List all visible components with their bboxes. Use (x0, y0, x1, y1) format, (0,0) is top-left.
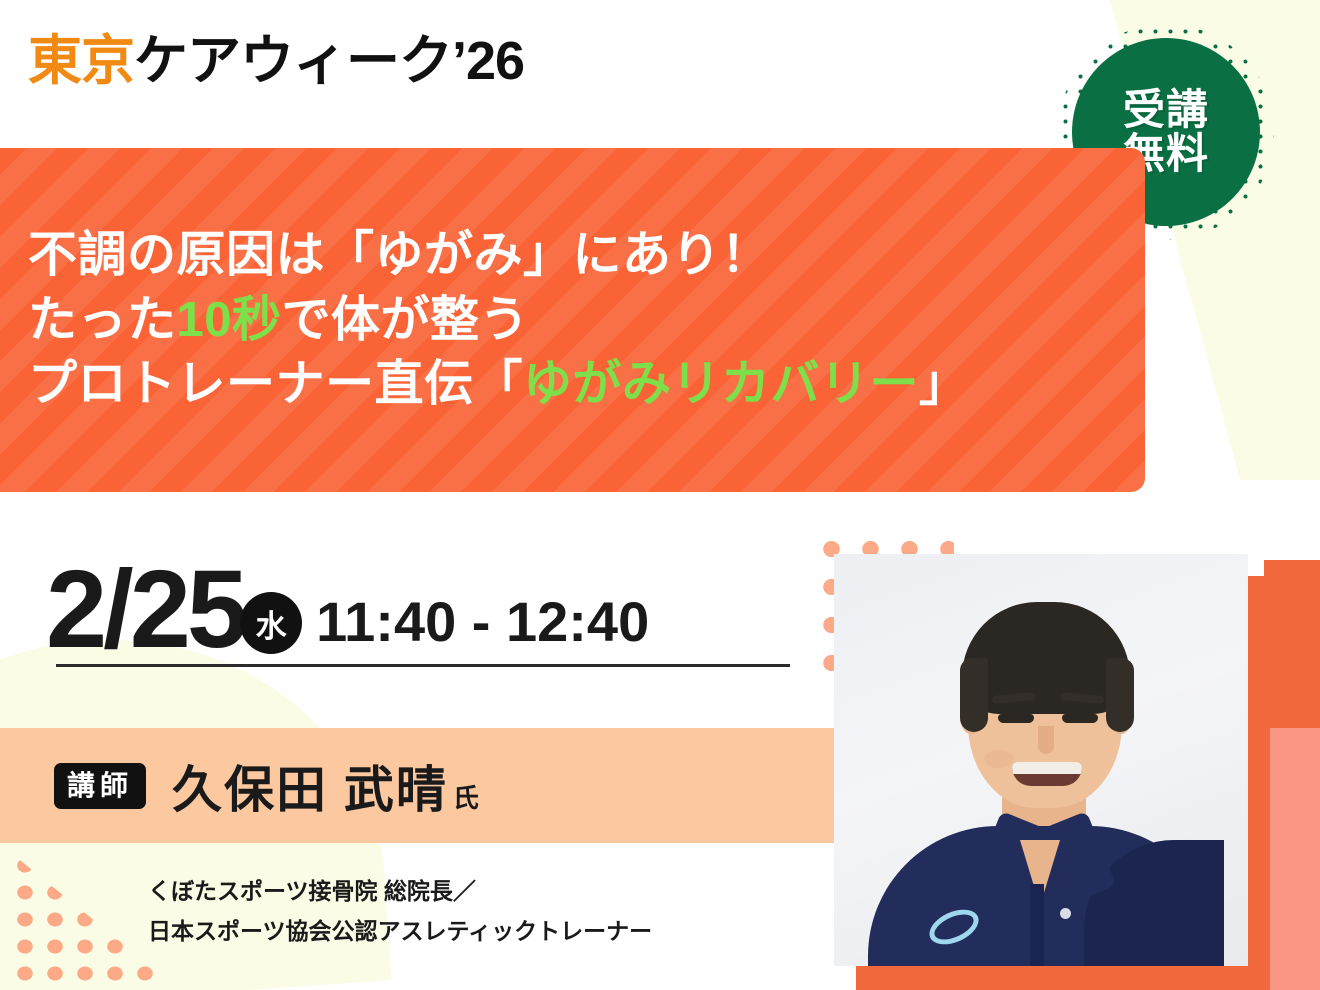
title-line-1: 不調の原因は「ゆがみ」にあり！ (28, 223, 1145, 288)
portrait-mouth (1012, 762, 1082, 786)
portrait-nose (1038, 726, 1054, 754)
affiliation-line-2: 日本スポーツ協会公認アスレティックトレーナー (148, 912, 788, 952)
title-line-3-highlight: ゆがみリカバリー (523, 357, 919, 411)
portrait-teeth (1012, 762, 1082, 774)
event-logo-prefix: 東京 (28, 31, 134, 91)
day-of-week-chip: 水 (240, 592, 302, 654)
portrait-eye-left (998, 714, 1034, 723)
event-date: 2/25 (46, 559, 244, 660)
title-line-2-part-b: で体が整う (282, 293, 530, 347)
speaker-honorific: 氏 (453, 783, 481, 813)
seminar-title-banner: 不調の原因は「ゆがみ」にあり！ たった10秒で体が整う プロトレーナー直伝「ゆが… (0, 148, 1145, 492)
speaker-portrait (834, 554, 1248, 966)
promo-banner: 東京ケアウィーク’26 受講 無料 不調の原因は「ゆがみ」にあり！ たった10秒… (0, 0, 1320, 990)
title-line-2-part-a: たった (28, 293, 177, 347)
affiliation-line-1: くぼたスポーツ接骨院 総院長／ (148, 872, 788, 912)
portrait-placket (1030, 884, 1044, 966)
schedule-row: 2/25 水 11:40 - 12:40 (46, 548, 806, 660)
title-line-2: たった10秒で体が整う (28, 288, 1145, 353)
speaker-band: 講師 久保田 武晴氏 (0, 728, 838, 843)
speaker-photo-block (812, 530, 1282, 990)
portrait-hair-right (1106, 658, 1134, 732)
title-line-3-part-a: プロトレーナー直伝「 (28, 357, 523, 411)
speaker-role-badge: 講師 (54, 763, 146, 809)
title-line-2-highlight: 10秒 (177, 293, 282, 347)
speaker-name: 久保田 武晴氏 (172, 750, 481, 822)
speaker-affiliation: くぼたスポーツ接骨院 総院長／ 日本スポーツ協会公認アスレティックトレーナー (148, 872, 788, 951)
event-logo: 東京ケアウィーク’26 (28, 34, 524, 88)
schedule-divider (56, 664, 790, 667)
portrait-hair-left (960, 658, 988, 732)
title-line-3-part-b: 」 (919, 357, 969, 411)
event-logo-suffix: ケアウィーク’26 (134, 31, 524, 91)
portrait-cheek (984, 750, 1014, 768)
portrait-eye-right (1062, 714, 1098, 723)
title-line-3: プロトレーナー直伝「ゆがみリカバリー」 (28, 352, 1145, 417)
speaker-name-text: 久保田 武晴 (172, 762, 448, 818)
event-time: 11:40 - 12:40 (316, 589, 649, 654)
badge-line-1: 受講 (1123, 88, 1209, 132)
portrait-button (1060, 908, 1071, 919)
